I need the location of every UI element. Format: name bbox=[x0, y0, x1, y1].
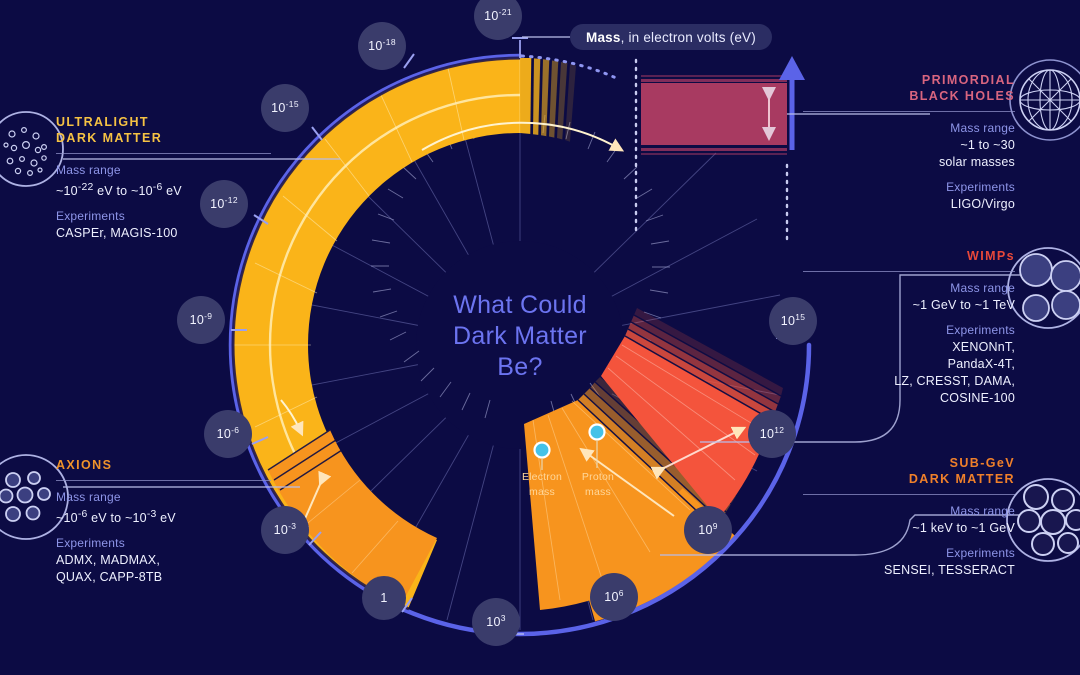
panel-title-wimps: WIMPs bbox=[803, 248, 1015, 264]
axis-tick-base: 10 bbox=[760, 427, 775, 441]
many-small-particles-icon bbox=[0, 112, 63, 186]
experiments-label: Experiments bbox=[56, 208, 271, 225]
mass-axis-label-rest: , in electron volts (eV) bbox=[621, 30, 756, 45]
page-title-line1: What Could bbox=[404, 290, 636, 321]
mass-range-value-2: solar masses bbox=[803, 154, 1015, 171]
panel-sub-gev-dark-matter[interactable]: SUB-GeV DARK MATTER Mass range ~1 keV to… bbox=[803, 455, 1015, 579]
axis-tick-base: 10 bbox=[781, 314, 796, 328]
experiments-value: SENSEI, TESSERACT bbox=[803, 562, 1015, 579]
divider bbox=[56, 153, 271, 154]
experiments-value-1: XENONnT, bbox=[803, 339, 1015, 356]
axis-tick-base: 10 bbox=[604, 590, 619, 604]
panel-title-ultralight: ULTRALIGHT DARK MATTER bbox=[56, 114, 271, 146]
mass-range-value-1: ~1 to ~30 bbox=[803, 137, 1015, 154]
page-title: What Could Dark Matter Be? bbox=[404, 290, 636, 383]
axis-tick-109: 109 bbox=[684, 506, 732, 554]
mass-range-value: ~1 keV to ~1 GeV bbox=[803, 520, 1015, 537]
mass-range-label: Mass range bbox=[803, 120, 1015, 137]
divider bbox=[56, 480, 271, 481]
mass-range-label: Mass range bbox=[56, 162, 271, 179]
experiments-value-3: LZ, CRESST, DAMA, bbox=[803, 373, 1015, 390]
panel-wimps[interactable]: WIMPs Mass range ~1 GeV to ~1 TeV Experi… bbox=[803, 248, 1015, 407]
six-circles-icon bbox=[1007, 479, 1080, 561]
axis-tick-1012: 1012 bbox=[748, 410, 796, 458]
divider bbox=[803, 494, 1015, 495]
axis-tick-base: 10 bbox=[271, 101, 286, 115]
panel-title-pbh: PRIMORDIAL BLACK HOLES bbox=[803, 72, 1015, 104]
experiments-value: LIGO/Virgo bbox=[803, 196, 1015, 213]
pbh-box bbox=[641, 75, 787, 155]
panel-axions[interactable]: AXIONS Mass range ~10-6 eV to ~10-3 eV E… bbox=[56, 457, 271, 586]
experiments-value: CASPEr, MAGIS-100 bbox=[56, 225, 271, 242]
experiments-label: Experiments bbox=[803, 322, 1015, 339]
axis-tick-103: 103 bbox=[472, 598, 520, 646]
panel-title-subgev: SUB-GeV DARK MATTER bbox=[803, 455, 1015, 487]
proton-mass-label: Proton mass bbox=[563, 470, 633, 500]
page-title-line2: Dark Matter bbox=[404, 321, 636, 352]
axis-tick-10-18: 10-18 bbox=[358, 22, 406, 70]
axis-tick-1: 1 bbox=[362, 576, 406, 620]
mass-range-label: Mass range bbox=[803, 280, 1015, 297]
panel-primordial-black-holes[interactable]: PRIMORDIAL BLACK HOLES Mass range ~1 to … bbox=[803, 72, 1015, 213]
axis-tick-base: 10 bbox=[698, 523, 713, 537]
axis-tick-base: 1 bbox=[380, 591, 387, 605]
axis-tick-base: 10 bbox=[274, 523, 289, 537]
mass-range-value: ~10-22 eV to ~10-6 eV bbox=[56, 179, 271, 200]
experiments-label: Experiments bbox=[803, 545, 1015, 562]
mass-range-value: ~10-6 eV to ~10-3 eV bbox=[56, 506, 271, 527]
page-title-line3: Be? bbox=[404, 352, 636, 383]
axis-tick-base: 10 bbox=[484, 9, 499, 23]
axis-tick-10-6: 10-6 bbox=[204, 410, 252, 458]
experiments-value-2: QUAX, CAPP-8TB bbox=[56, 569, 271, 586]
axis-tick-base: 10 bbox=[217, 427, 232, 441]
axis-tick-base: 10 bbox=[190, 313, 205, 327]
experiments-label: Experiments bbox=[56, 535, 271, 552]
divider bbox=[803, 271, 1015, 272]
mass-range-value: ~1 GeV to ~1 TeV bbox=[803, 297, 1015, 314]
proton-mass-line2: mass bbox=[563, 485, 633, 500]
panel-ultralight-dark-matter[interactable]: ULTRALIGHT DARK MATTER Mass range ~10-22… bbox=[56, 114, 271, 242]
mass-range-label: Mass range bbox=[803, 503, 1015, 520]
experiments-label: Experiments bbox=[803, 179, 1015, 196]
experiments-value-2: PandaX-4T, bbox=[803, 356, 1015, 373]
mass-axis-label-pill: Mass, in electron volts (eV) bbox=[570, 24, 772, 50]
experiments-value-1: ADMX, MADMAX, bbox=[56, 552, 271, 569]
mass-axis-label-bold: Mass bbox=[586, 30, 621, 45]
divider bbox=[803, 111, 1015, 112]
axis-tick-106: 106 bbox=[590, 573, 638, 621]
proton-mass-line1: Proton bbox=[563, 470, 633, 485]
experiments-value-4: COSINE-100 bbox=[803, 390, 1015, 407]
axis-tick-base: 10 bbox=[486, 615, 501, 629]
axis-tick-base: 10 bbox=[368, 39, 383, 53]
panel-title-axions: AXIONS bbox=[56, 457, 271, 473]
mass-range-label: Mass range bbox=[56, 489, 271, 506]
axis-tick-10-9: 10-9 bbox=[177, 296, 225, 344]
four-blobs-icon bbox=[1008, 248, 1080, 328]
black-hole-globe-icon bbox=[1010, 60, 1080, 140]
